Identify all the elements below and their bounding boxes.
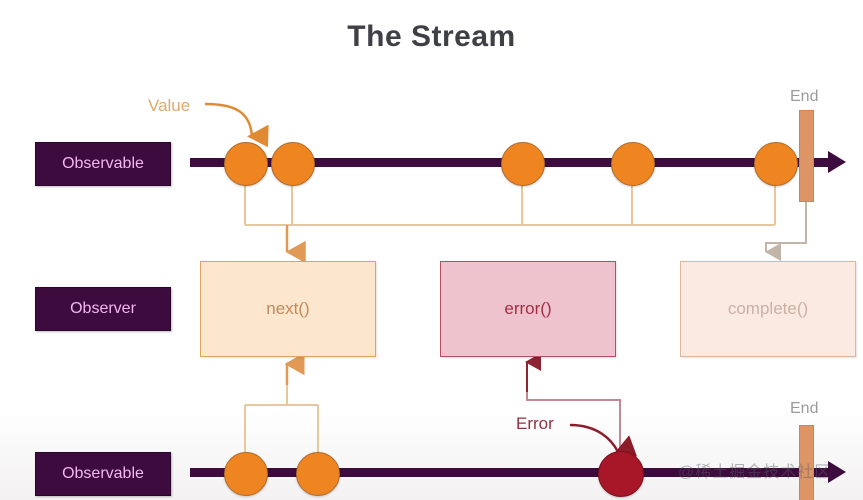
end-to-complete-connector [766, 202, 806, 252]
value-dot-3[interactable] [501, 142, 545, 186]
error-handler-box[interactable]: error() [440, 261, 616, 357]
observable-bottom-label: Observable [35, 452, 171, 496]
complete-handler-label: complete() [728, 299, 808, 319]
value-callout-arrow [205, 104, 252, 136]
value-annotation-label: Value [148, 96, 190, 116]
value-dot-1[interactable] [224, 142, 268, 186]
connector-overlay [0, 0, 863, 500]
next-handler-label: next() [266, 299, 309, 319]
error-annotation-label: Error [516, 414, 554, 434]
observable-top-label: Observable [35, 142, 171, 186]
value-dot-7[interactable] [296, 452, 340, 496]
error-handler-label: error() [504, 299, 551, 319]
value-dot-4[interactable] [611, 142, 655, 186]
observer-label: Observer [35, 287, 171, 331]
next-handler-box[interactable]: next() [200, 261, 376, 357]
error-callout-arrow [570, 425, 618, 452]
complete-handler-box[interactable]: complete() [680, 261, 856, 357]
stream-arrowhead-top [828, 151, 846, 173]
bottom-next-connectors [245, 370, 318, 455]
end-label-top: End [790, 88, 818, 106]
value-dot-2[interactable] [271, 142, 315, 186]
end-bar-top [799, 110, 814, 202]
observable-bottom-label-text: Observable [62, 465, 144, 483]
watermark: @稀土掘金技术社区 [678, 458, 831, 482]
value-dot-6[interactable] [224, 452, 268, 496]
error-dot-1[interactable] [598, 451, 644, 497]
value-dot-5[interactable] [754, 142, 798, 186]
observable-top-label-text: Observable [62, 155, 144, 173]
slide-canvas: The Stream [0, 0, 863, 500]
error-connector [527, 364, 620, 462]
end-label-bottom: End [790, 400, 818, 418]
observer-label-text: Observer [70, 300, 136, 318]
top-next-connectors [245, 180, 775, 225]
